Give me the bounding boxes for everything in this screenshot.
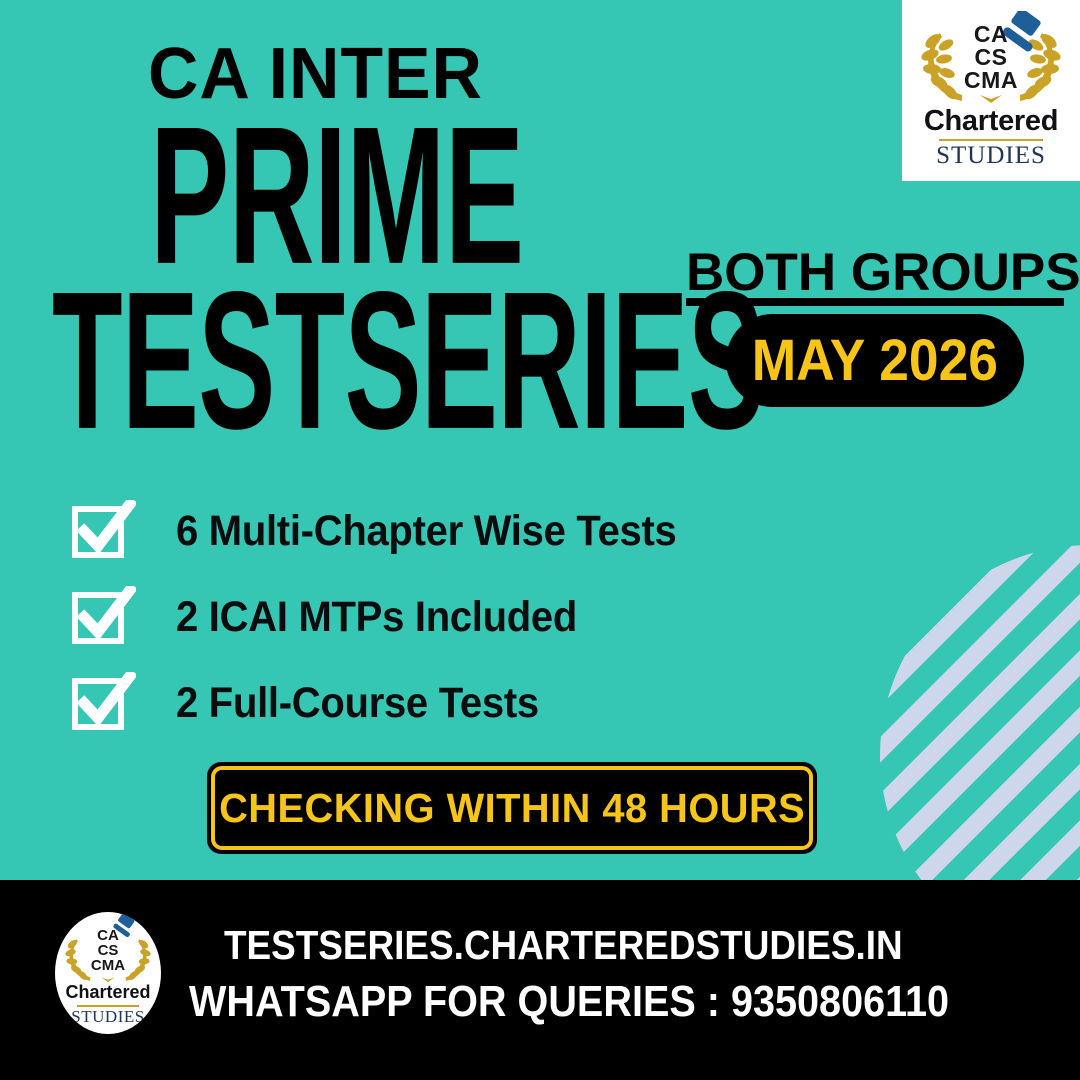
brand-logo-subname: STUDIES [55, 1007, 161, 1027]
brand-logo-name: Chartered [913, 105, 1069, 138]
both-groups-underline [686, 298, 1064, 306]
feature-label: 2 Full-Course Tests [176, 679, 539, 728]
brand-logo-name: Chartered [55, 982, 161, 1003]
brand-logo-subname: STUDIES [913, 142, 1069, 170]
footer-contact[interactable]: WHATSAPP FOR QUERIES : 9350806110 [189, 977, 949, 1027]
list-item: 2 Full-Course Tests [70, 660, 870, 746]
checkmark-icon [74, 586, 136, 648]
checkbox-checked-icon [70, 672, 132, 734]
checkbox-checked-icon [70, 586, 132, 648]
checkmark-icon [74, 672, 136, 734]
brand-logo-divider [939, 139, 1043, 141]
brand-logo-letters: CA CS CMA [913, 23, 1069, 92]
feature-list: 6 Multi-Chapter Wise Tests 2 ICAI MTPs I… [70, 488, 870, 746]
checkmark-icon [74, 500, 136, 562]
footer-website[interactable]: TESTSERIES.CHARTEREDSTUDIES.IN [224, 922, 903, 969]
brand-letter-cma: CMA [55, 958, 161, 973]
checking-turnaround-text: CHECKING WITHIN 48 HOURS [219, 785, 805, 832]
footer-bar: CA CS CMA Chartered STUDIES TESTSERIES.C… [0, 880, 1080, 1080]
promo-poster: CA CS CMA Chartered STUDIES CA INTER PRI… [0, 0, 1080, 1080]
feature-label: 2 ICAI MTPs Included [176, 593, 577, 642]
brand-letter-ca: CA [913, 23, 1069, 46]
brand-letter-cs: CS [55, 943, 161, 958]
brand-letter-cs: CS [913, 46, 1069, 69]
brand-logo-panel: CA CS CMA Chartered STUDIES [902, 0, 1080, 181]
list-item: 2 ICAI MTPs Included [70, 574, 870, 660]
list-item: 6 Multi-Chapter Wise Tests [70, 488, 870, 574]
brand-logo-letters: CA CS CMA [55, 928, 161, 973]
brand-letter-ca: CA [55, 928, 161, 943]
checking-turnaround-banner: CHECKING WITHIN 48 HOURS [207, 762, 817, 854]
title-line-testseries: TESTSERIES [52, 280, 764, 443]
brand-letter-cma: CMA [913, 69, 1069, 92]
both-groups-label: BOTH GROUPS [686, 246, 1080, 299]
exam-session-text: MAY 2026 [752, 327, 998, 394]
exam-session-badge: MAY 2026 [726, 314, 1024, 407]
checkbox-checked-icon [70, 500, 132, 562]
footer-brand-logo: CA CS CMA Chartered STUDIES [55, 912, 161, 1034]
feature-label: 6 Multi-Chapter Wise Tests [176, 507, 676, 556]
brand-logo-mark: CA CS CMA Chartered STUDIES [913, 11, 1069, 171]
